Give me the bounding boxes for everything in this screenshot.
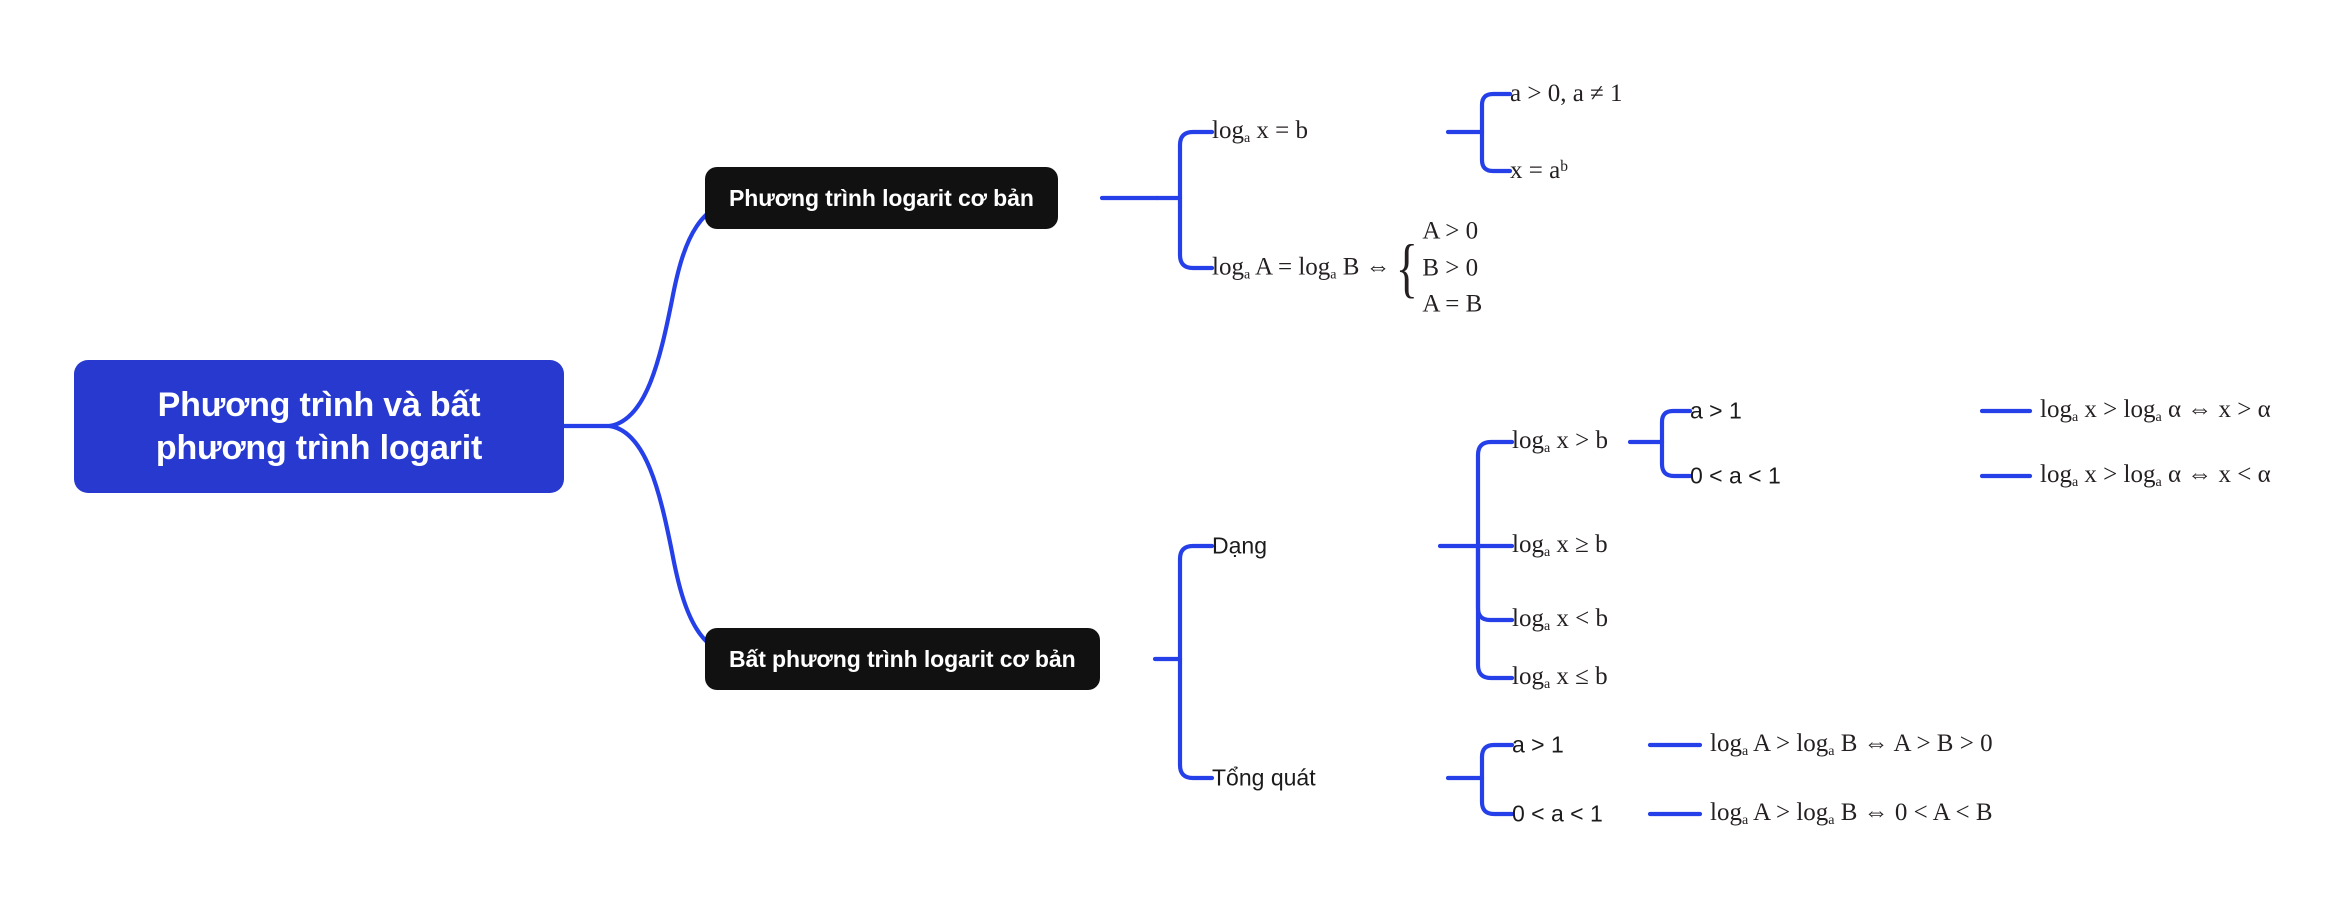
leaf-dang[interactable]: Dạng: [1212, 533, 1267, 560]
leaf-form1-case-2[interactable]: 0 < a < 1: [1690, 463, 1781, 490]
topic-label-phuong-trinh: Phương trình logarit cơ bản: [729, 185, 1034, 212]
form3-log: log: [1512, 605, 1544, 632]
eq2-sys-line-2: B > 0: [1422, 250, 1482, 287]
eq2-system-lines: A > 0 B > 0 A = B: [1422, 213, 1482, 323]
tq2-tail: B ⇔ 0 < A < B: [1834, 799, 1992, 826]
eq2-lead: loga A = loga B ⇔: [1212, 253, 1391, 283]
r1-tail: α ⇔ x > α: [2162, 396, 2271, 423]
leaf-form1-result-1[interactable]: loga x > loga α ⇔ x > α: [2040, 396, 2271, 426]
leaf-form1-case-1[interactable]: a > 1: [1690, 398, 1742, 425]
eq2-tail: B ⇔: [1336, 253, 1390, 280]
leaf-form-1[interactable]: loga x > b: [1512, 427, 1608, 457]
leaf-tongquat-case-1[interactable]: a > 1: [1512, 732, 1564, 759]
r1-mid: x > log: [2078, 396, 2155, 423]
wire-bpt-to-tongquat: [1180, 659, 1212, 778]
cond1-part-b: ≠ 1: [1590, 80, 1622, 107]
cond2-prefix: x = a: [1510, 157, 1560, 184]
tq2-log: log: [1710, 799, 1742, 826]
wire-eq1-to-cond2: [1482, 132, 1510, 171]
eq1-rest: x = b: [1250, 117, 1308, 144]
wire-eq1-to-cond1: [1482, 94, 1510, 132]
eq1-log-text: log: [1212, 117, 1244, 144]
root-node[interactable]: Phương trình và bất phương trình logarit: [74, 360, 564, 493]
topic-node-bat-phuong-trinh[interactable]: Bất phương trình logarit cơ bản: [705, 628, 1100, 690]
eq2-sys-line-3: A = B: [1422, 286, 1482, 323]
wire-pt-to-eq1: [1180, 132, 1212, 198]
wire-dang-to-form1: [1478, 442, 1512, 546]
tq1-mid: A > log: [1748, 730, 1828, 757]
leaf-form1-result-2[interactable]: loga x > loga α ⇔ x < α: [2040, 461, 2271, 491]
cond2-exponent: b: [1560, 158, 1568, 175]
wire-root-to-pt: [610, 198, 748, 426]
leaf-tongquat-case-2[interactable]: 0 < a < 1: [1512, 801, 1603, 828]
form3-rest: x < b: [1550, 605, 1608, 632]
tq2-mid: A > log: [1748, 799, 1828, 826]
wire-dang-to-form3: [1478, 546, 1512, 620]
eq2-system: loga A = loga B ⇔ { A > 0 B > 0 A = B: [1212, 213, 1482, 323]
form2-rest: x ≥ b: [1550, 531, 1607, 558]
r2-log: log: [2040, 461, 2072, 488]
eq2-sys-line-1: A > 0: [1422, 213, 1482, 250]
r2-mid: x > log: [2078, 461, 2155, 488]
leaf-pt-condition-2[interactable]: x = ab: [1510, 157, 1568, 185]
leaf-form-3[interactable]: loga x < b: [1512, 605, 1608, 635]
wire-dang-to-form4: [1478, 546, 1512, 678]
wire-tongquat-to-case1: [1482, 745, 1512, 778]
form4-rest: x ≤ b: [1550, 663, 1607, 690]
wire-form1-to-case1: [1662, 411, 1690, 442]
tq1-tail: B ⇔ A > B > 0: [1834, 730, 1992, 757]
leaf-pt-condition-1[interactable]: a > 0, a ≠ 1: [1510, 80, 1623, 108]
mindmap-canvas: Phương trình và bất phương trình logarit…: [0, 0, 2352, 913]
leaf-pt-equation-2[interactable]: loga A = loga B ⇔ { A > 0 B > 0 A = B: [1212, 213, 1482, 323]
topic-label-bat-phuong-trinh: Bất phương trình logarit cơ bản: [729, 646, 1076, 673]
wire-form1-to-case2: [1662, 442, 1690, 476]
root-label-line2: phương trình logarit: [156, 429, 482, 467]
leaf-form-4[interactable]: loga x ≤ b: [1512, 663, 1608, 693]
form1-log: log: [1512, 427, 1544, 454]
leaf-form-2[interactable]: loga x ≥ b: [1512, 531, 1608, 561]
form4-log: log: [1512, 663, 1544, 690]
wire-root-to-bpt: [610, 426, 748, 659]
system-brace: {: [1395, 242, 1417, 293]
r1-log: log: [2040, 396, 2072, 423]
form1-rest: x > b: [1550, 427, 1608, 454]
wire-bpt-to-dang: [1180, 546, 1212, 659]
r2-tail: α ⇔ x < α: [2162, 461, 2271, 488]
root-node-label: Phương trình và bất phương trình logarit: [156, 384, 482, 470]
root-label-line1: Phương trình và bất: [158, 386, 481, 424]
leaf-tongquat-result-1[interactable]: loga A > loga B ⇔ A > B > 0: [1710, 730, 1993, 760]
leaf-tong-quat[interactable]: Tổng quát: [1212, 765, 1316, 792]
tq1-log: log: [1710, 730, 1742, 757]
eq2-mid: A = log: [1250, 253, 1330, 280]
leaf-tongquat-result-2[interactable]: loga A > loga B ⇔ 0 < A < B: [1710, 799, 1993, 829]
topic-node-phuong-trinh[interactable]: Phương trình logarit cơ bản: [705, 167, 1058, 229]
eq2-log1: log: [1212, 253, 1244, 280]
form2-log: log: [1512, 531, 1544, 558]
wire-tongquat-to-case2: [1482, 778, 1512, 814]
leaf-pt-equation-1[interactable]: loga x = b: [1212, 117, 1308, 147]
wire-pt-to-eq2: [1180, 198, 1212, 268]
cond1-part-a: a > 0, a: [1510, 80, 1590, 107]
